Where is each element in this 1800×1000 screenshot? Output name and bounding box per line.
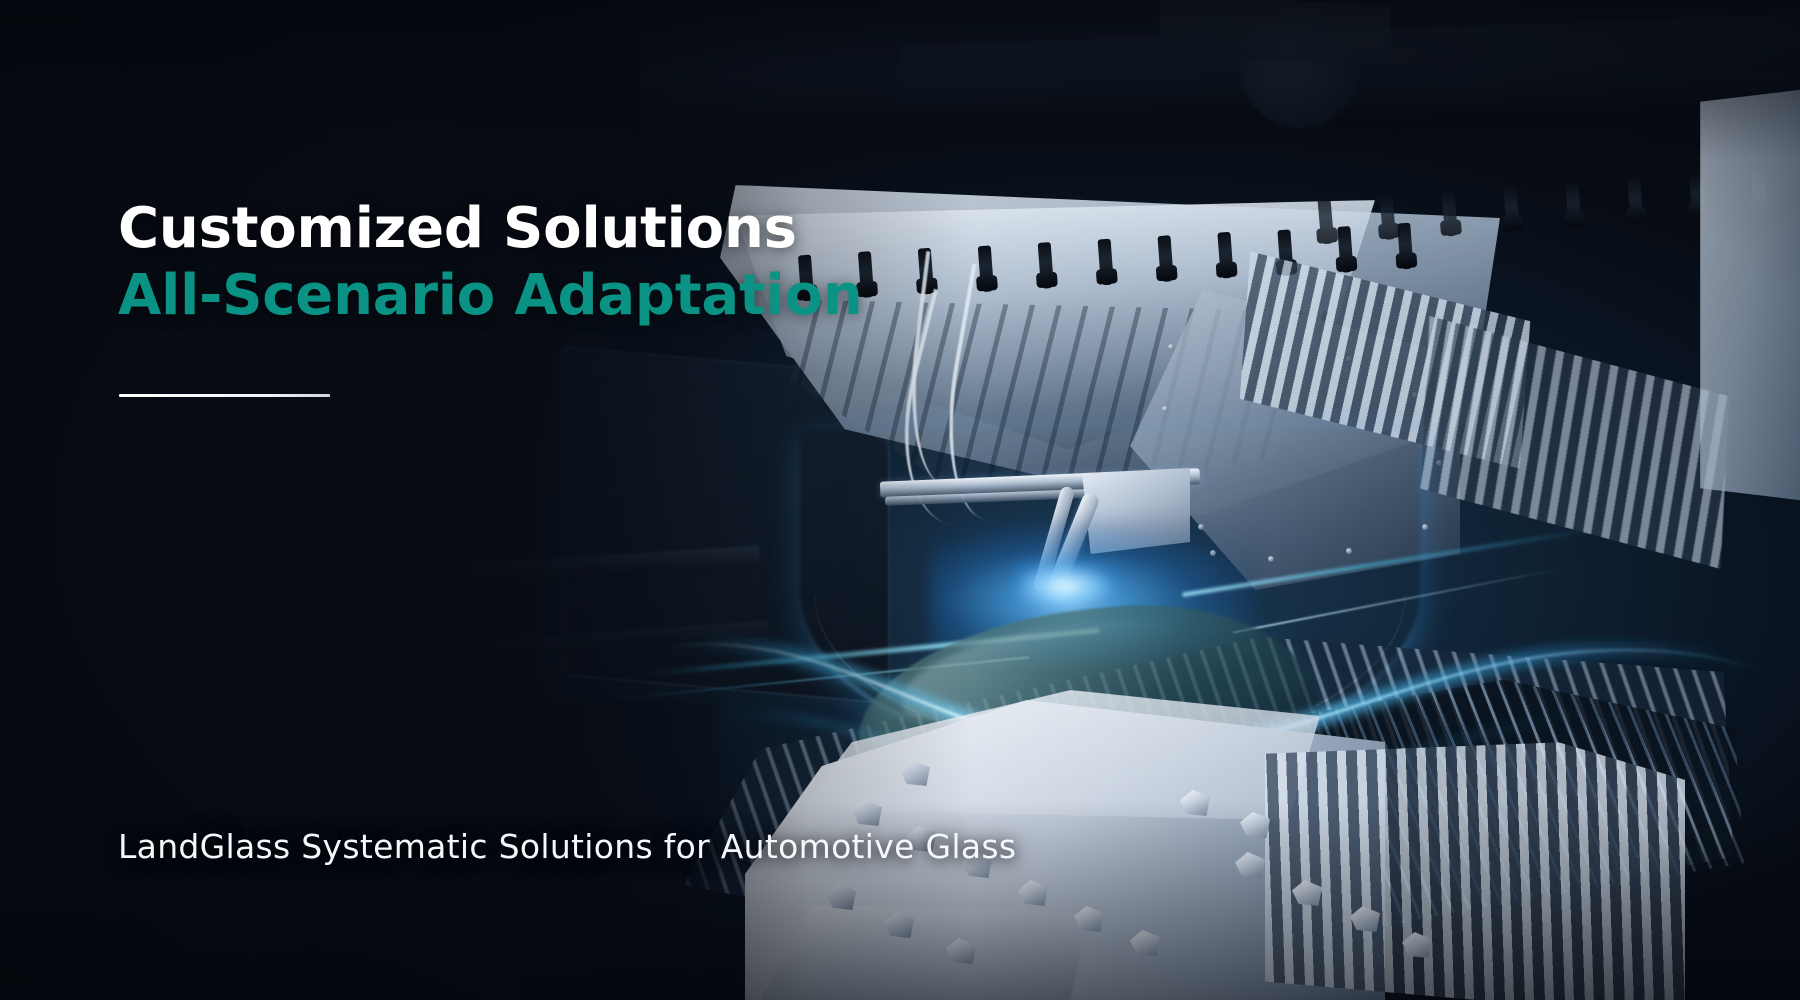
hero-banner: Customized Solutions All-Scenario Adapta… [0,0,1800,1000]
headline-primary: Customized Solutions [118,200,862,258]
banner-subtitle: LandGlass Systematic Solutions for Autom… [118,827,1016,866]
headline-block: Customized Solutions All-Scenario Adapta… [118,200,862,325]
banner-content: Customized Solutions All-Scenario Adapta… [0,0,1800,1000]
headline-accent: All-Scenario Adaptation [118,267,862,325]
headline-divider [119,394,330,397]
